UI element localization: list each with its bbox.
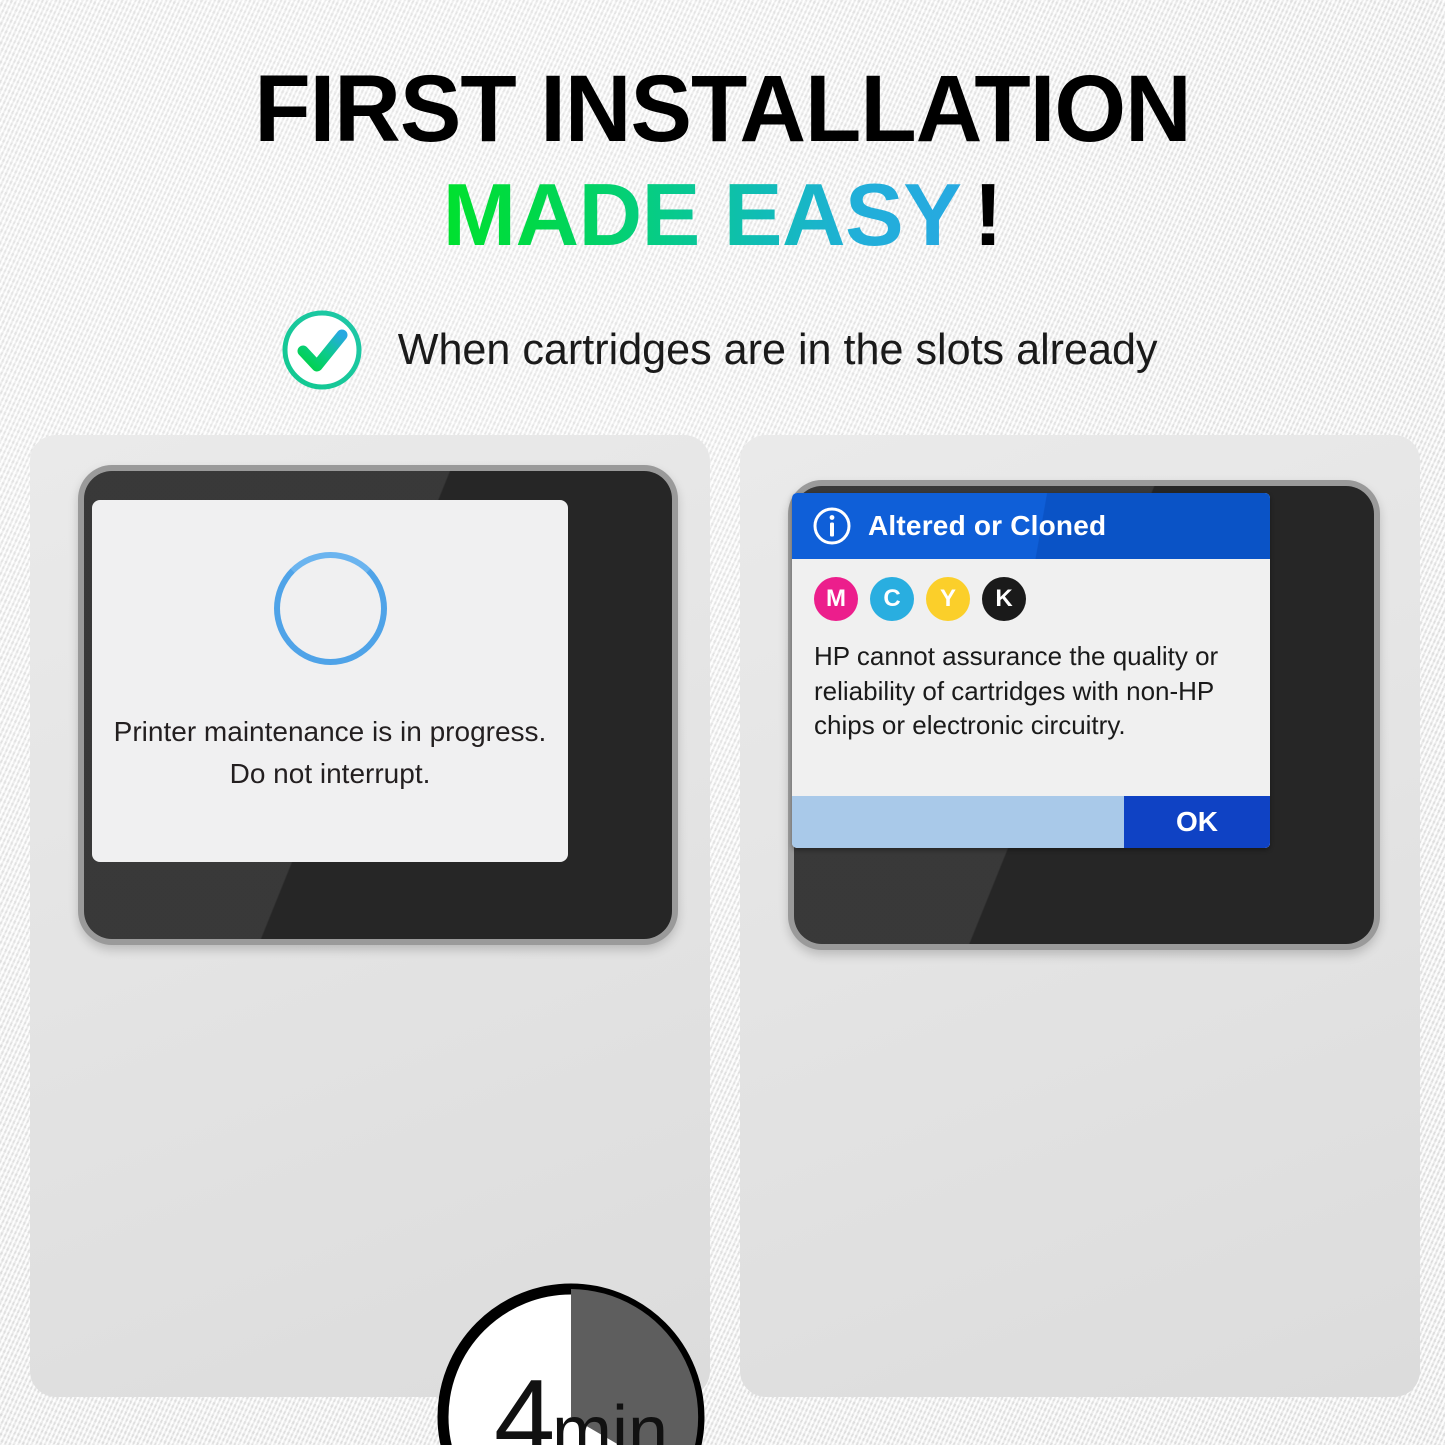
loading-spinner-icon	[274, 552, 387, 665]
screen-message-line2: Do not interrupt.	[230, 753, 431, 795]
ink-dot-black: K	[982, 577, 1026, 621]
subtitle-row: When cartridges are in the slots already	[0, 308, 1445, 392]
header-titles: FIRST INSTALLATION MADE EASY!	[0, 62, 1445, 259]
info-circle-icon	[812, 506, 852, 546]
panel-wait-card: Printer maintenance is in progress. Do n…	[30, 435, 710, 1397]
timer-value: 4	[494, 1357, 555, 1445]
dialog-title: Altered or Cloned	[868, 510, 1106, 542]
dialog-header: Altered or Cloned	[792, 493, 1270, 559]
ink-dot-cyan: C	[870, 577, 914, 621]
ink-dot-yellow: Y	[926, 577, 970, 621]
screen-message-line1: Printer maintenance is in progress.	[114, 711, 547, 753]
altered-or-cloned-dialog: Altered or Cloned M C Y K HP cannot assu…	[792, 493, 1270, 848]
printer-screen-left: Printer maintenance is in progress. Do n…	[92, 500, 568, 862]
dialog-message-text: HP cannot assurance the quality or relia…	[814, 639, 1248, 743]
check-circle-icon	[280, 308, 364, 392]
ok-button[interactable]: OK	[1124, 796, 1270, 848]
ink-dot-magenta: M	[814, 577, 858, 621]
subtitle-label: When cartridges are in the slots already	[398, 325, 1158, 375]
panel-click-ok-card: Altered or Cloned M C Y K HP cannot assu…	[740, 435, 1420, 1397]
timer-unit: min.	[552, 1392, 688, 1445]
page-title-line2: MADE EASY!	[0, 171, 1445, 259]
dialog-body: M C Y K HP cannot assurance the quality …	[792, 559, 1270, 796]
page-title-line1: FIRST INSTALLATION	[22, 62, 1424, 157]
page-title-gradient-text: MADE EASY	[443, 165, 962, 264]
page-title-exclamation: !	[961, 165, 1002, 264]
dialog-footer: OK	[792, 796, 1270, 848]
ink-status-row: M C Y K	[814, 577, 1248, 621]
timer-badge-icon: 4 min.	[434, 1280, 708, 1445]
